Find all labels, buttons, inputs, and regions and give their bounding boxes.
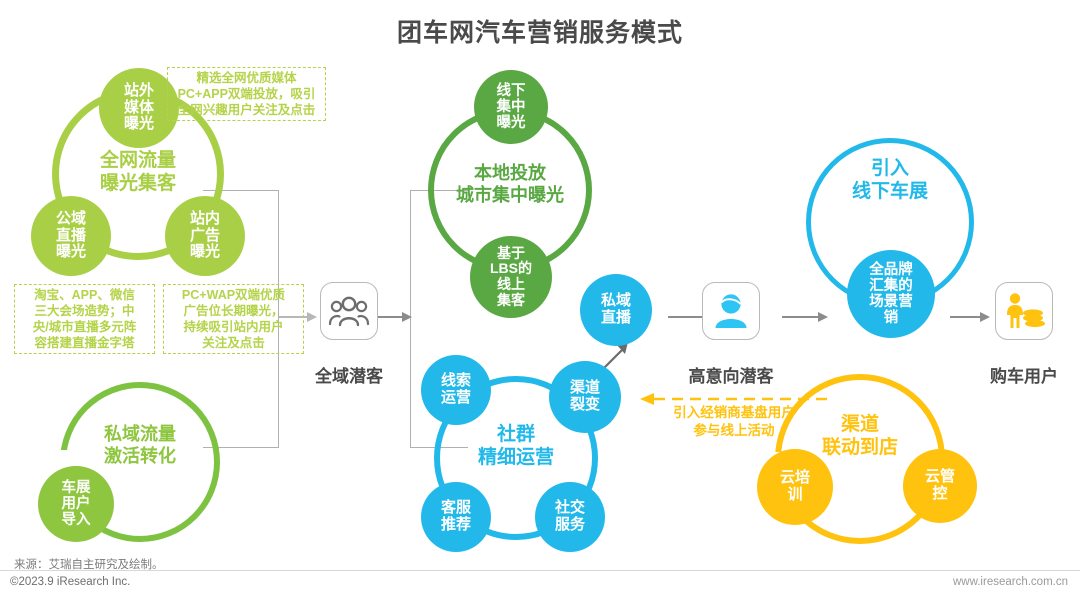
arrow-out-quanyu	[376, 310, 414, 324]
cluster-quanwang-center-line2: 曝光集客	[62, 173, 214, 196]
stage-label-gaoyixiang: 高意向潜客	[666, 362, 796, 387]
node-xiansuo-yunying[interactable]: 线索 运营	[421, 355, 491, 425]
node-yun-guankong[interactable]: 云管 控	[903, 449, 977, 523]
node-kefu-tuijian[interactable]: 客服 推荐	[421, 482, 491, 552]
cluster-yinru-center-line2: 线下车展	[800, 181, 980, 204]
cluster-shequn-center: 社群 精细运营	[444, 424, 588, 470]
footer-bar: ©2023.9 iResearch Inc. www.iresearch.com…	[0, 570, 1080, 597]
node-quanpinpai-changjing-yingxiao[interactable]: 全品牌 汇集的 场景营 销	[847, 250, 935, 338]
stage-icon-goucheyonghu	[995, 282, 1053, 340]
arrow-out-gaoyixiang	[782, 310, 830, 324]
footer-copyright: ©2023.9 iResearch Inc.	[10, 576, 130, 588]
node-shejiao-fuwu[interactable]: 社交 服务	[535, 482, 605, 552]
node-gongyu-zhibo-baoguang[interactable]: 公域 直播 曝光	[31, 196, 111, 276]
node-chezhan-yonghu-daoru[interactable]: 车展 用户 导入	[38, 466, 114, 542]
person-blue-icon	[712, 293, 750, 329]
cluster-qudao-center-line1: 渠道	[790, 414, 930, 437]
node-lbs-xianshang-jike[interactable]: 基于 LBS的 线上 集客	[470, 236, 552, 318]
stage-label-goucheyonghu: 购车用户	[969, 362, 1079, 387]
cluster-bendi-center-line1: 本地投放	[420, 163, 600, 185]
cluster-bendi-center: 本地投放 城市集中曝光	[420, 163, 600, 206]
node-qudao-liebian[interactable]: 渠道 裂变	[549, 361, 621, 433]
note-zhanwai: 精选全网优质媒体 PC+APP双端投放，吸引 全网兴趣用户关注及点击	[167, 67, 326, 121]
note-gongyu: 淘宝、APP、微信 三大会场造势；中 央/城市直播多元阵 容搭建直播金字塔	[14, 284, 155, 354]
stage-label-quanyu: 全域潜客	[296, 362, 402, 387]
cluster-siyu-center-line2: 激活转化	[70, 446, 210, 468]
node-zhannei-guanggao-baoguang[interactable]: 站内 广告 曝光	[165, 196, 245, 276]
cluster-bendi-center-line2: 城市集中曝光	[420, 185, 600, 207]
stage-icon-gaoyixiang	[702, 282, 760, 340]
person-coins-icon	[1003, 292, 1045, 330]
stage-icon-quanyu	[320, 282, 378, 340]
diagram-canvas: 团车网汽车营销服务模式 引入经销商基盘用户 参与线上活动	[0, 0, 1080, 597]
cluster-quanwang-center-line1: 全网流量	[62, 150, 214, 173]
cluster-siyu-center: 私域流量 激活转化	[70, 424, 210, 467]
node-xianxia-jizhong-baoguang[interactable]: 线下 集中 曝光	[474, 70, 548, 144]
people-group-icon	[329, 296, 369, 326]
arrow-into-goucheyonghu	[950, 310, 992, 324]
node-yun-peixun[interactable]: 云培 训	[757, 449, 833, 525]
footer-website[interactable]: www.iresearch.com.cn	[953, 576, 1068, 588]
cluster-siyu-center-line1: 私域流量	[70, 424, 210, 446]
cluster-yinru-center: 引入 线下车展	[800, 158, 980, 204]
cluster-yinru-center-line1: 引入	[800, 158, 980, 181]
node-siyu-zhibo[interactable]: 私域 直播	[580, 274, 652, 346]
cluster-quanwang-center: 全网流量 曝光集客	[62, 150, 214, 196]
page-title: 团车网汽车营销服务模式	[0, 13, 1080, 49]
cluster-shequn-center-line2: 精细运营	[444, 447, 588, 470]
note-zhannei: PC+WAP双端优质 广告位长期曝光， 持续吸引站内用户 关注及点击	[163, 284, 304, 354]
